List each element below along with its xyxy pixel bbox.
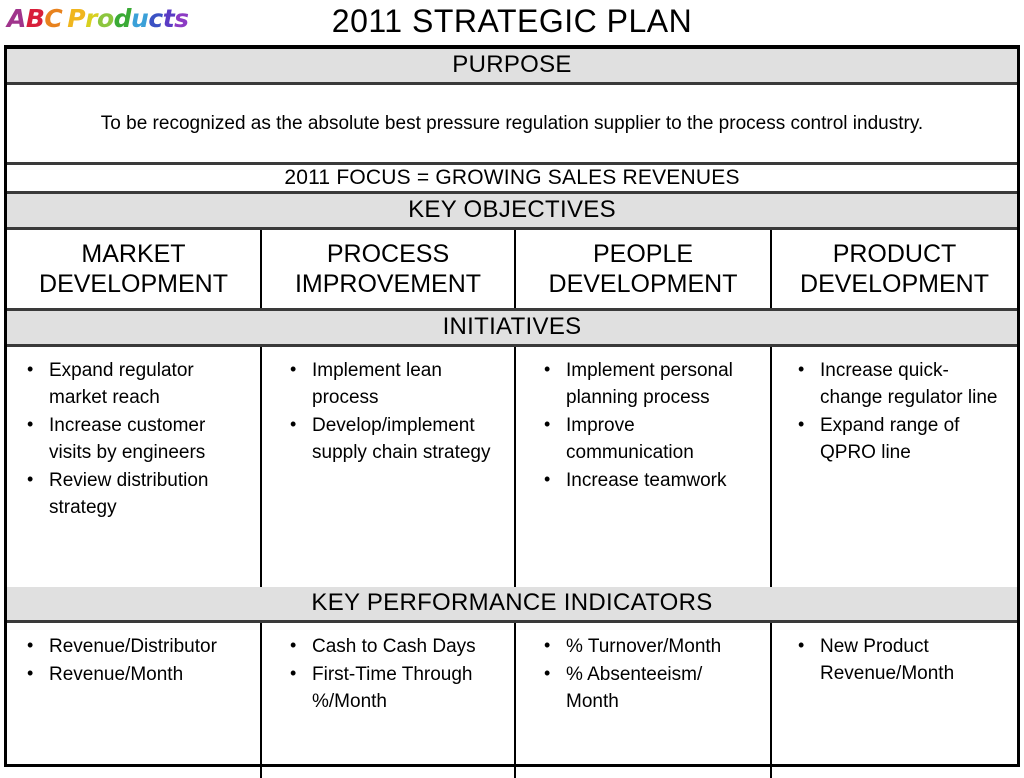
initiatives-section-header: INITIATIVES xyxy=(7,311,1017,347)
list-item: Develop/implement supply chain strategy xyxy=(310,412,504,466)
initiatives-column-product-development: Increase quick-change regulator lineExpa… xyxy=(772,347,1017,587)
initiatives-list: Implement personal planning processImpro… xyxy=(522,357,764,494)
list-item: Cash to Cash Days xyxy=(310,633,504,660)
initiatives-list: Expand regulator market reachIncrease cu… xyxy=(13,357,254,521)
kpi-column-people-development: % Turnover/Month% Absenteeism/ Month xyxy=(516,623,772,778)
list-item: Revenue/Distributor xyxy=(47,633,250,660)
objective-line-1: PRODUCT xyxy=(833,239,957,269)
objective-column-market-development: MARKET DEVELOPMENT xyxy=(7,230,262,308)
page-title: 2011 STRATEGIC PLAN xyxy=(0,2,1024,40)
kpi-section-header: KEY PERFORMANCE INDICATORS xyxy=(7,587,1017,623)
objective-line-2: DEVELOPMENT xyxy=(39,269,228,299)
list-item: First-Time Through %/Month xyxy=(310,661,504,715)
list-item: Improve communication xyxy=(564,412,760,466)
objective-line-1: MARKET xyxy=(81,239,185,269)
key-objectives-row: MARKET DEVELOPMENT PROCESS IMPROVEMENT P… xyxy=(7,230,1017,311)
list-item: % Turnover/Month xyxy=(564,633,760,660)
plan-table: PURPOSE To be recognized as the absolute… xyxy=(4,45,1020,767)
purpose-section-header: PURPOSE xyxy=(7,49,1017,85)
kpi-list: Revenue/DistributorRevenue/Month xyxy=(13,633,254,688)
list-item: % Absenteeism/ Month xyxy=(564,661,760,715)
kpi-column-market-development: Revenue/DistributorRevenue/Month xyxy=(7,623,262,778)
list-item: Revenue/Month xyxy=(47,661,250,688)
list-item: Increase quick-change regulator line xyxy=(818,357,1007,411)
objective-line-1: PROCESS xyxy=(327,239,449,269)
purpose-statement: To be recognized as the absolute best pr… xyxy=(7,85,1017,165)
kpi-list: New Product Revenue/Month xyxy=(778,633,1011,687)
initiatives-row: Expand regulator market reachIncrease cu… xyxy=(7,347,1017,587)
kpi-list: Cash to Cash DaysFirst-Time Through %/Mo… xyxy=(268,633,508,715)
initiatives-column-process-improvement: Implement lean processDevelop/implement … xyxy=(262,347,516,587)
strategic-plan-page: ABCProducts 2011 STRATEGIC PLAN PURPOSE … xyxy=(0,0,1024,771)
kpi-column-product-development: New Product Revenue/Month xyxy=(772,623,1017,778)
initiatives-column-market-development: Expand regulator market reachIncrease cu… xyxy=(7,347,262,587)
objective-column-people-development: PEOPLE DEVELOPMENT xyxy=(516,230,772,308)
list-item: New Product Revenue/Month xyxy=(818,633,1007,687)
objective-line-2: DEVELOPMENT xyxy=(800,269,989,299)
objective-column-process-improvement: PROCESS IMPROVEMENT xyxy=(262,230,516,308)
key-objectives-section-header: KEY OBJECTIVES xyxy=(7,194,1017,230)
kpi-list: % Turnover/Month% Absenteeism/ Month xyxy=(522,633,764,715)
list-item: Review distribution strategy xyxy=(47,467,250,521)
initiatives-list: Increase quick-change regulator lineExpa… xyxy=(778,357,1011,466)
objective-column-product-development: PRODUCT DEVELOPMENT xyxy=(772,230,1017,308)
list-item: Increase customer visits by engineers xyxy=(47,412,250,466)
kpi-column-process-improvement: Cash to Cash DaysFirst-Time Through %/Mo… xyxy=(262,623,516,778)
focus-statement: 2011 FOCUS = GROWING SALES REVENUES xyxy=(7,165,1017,194)
list-item: Expand regulator market reach xyxy=(47,357,250,411)
objective-line-2: IMPROVEMENT xyxy=(295,269,481,299)
initiatives-column-people-development: Implement personal planning processImpro… xyxy=(516,347,772,587)
list-item: Implement lean process xyxy=(310,357,504,411)
list-item: Implement personal planning process xyxy=(564,357,760,411)
list-item: Increase teamwork xyxy=(564,467,760,494)
objective-line-2: DEVELOPMENT xyxy=(549,269,738,299)
objective-line-1: PEOPLE xyxy=(593,239,693,269)
initiatives-list: Implement lean processDevelop/implement … xyxy=(268,357,508,466)
kpi-row: Revenue/DistributorRevenue/Month Cash to… xyxy=(7,623,1017,778)
list-item: Expand range of QPRO line xyxy=(818,412,1007,466)
page-header: ABCProducts 2011 STRATEGIC PLAN xyxy=(0,0,1024,45)
